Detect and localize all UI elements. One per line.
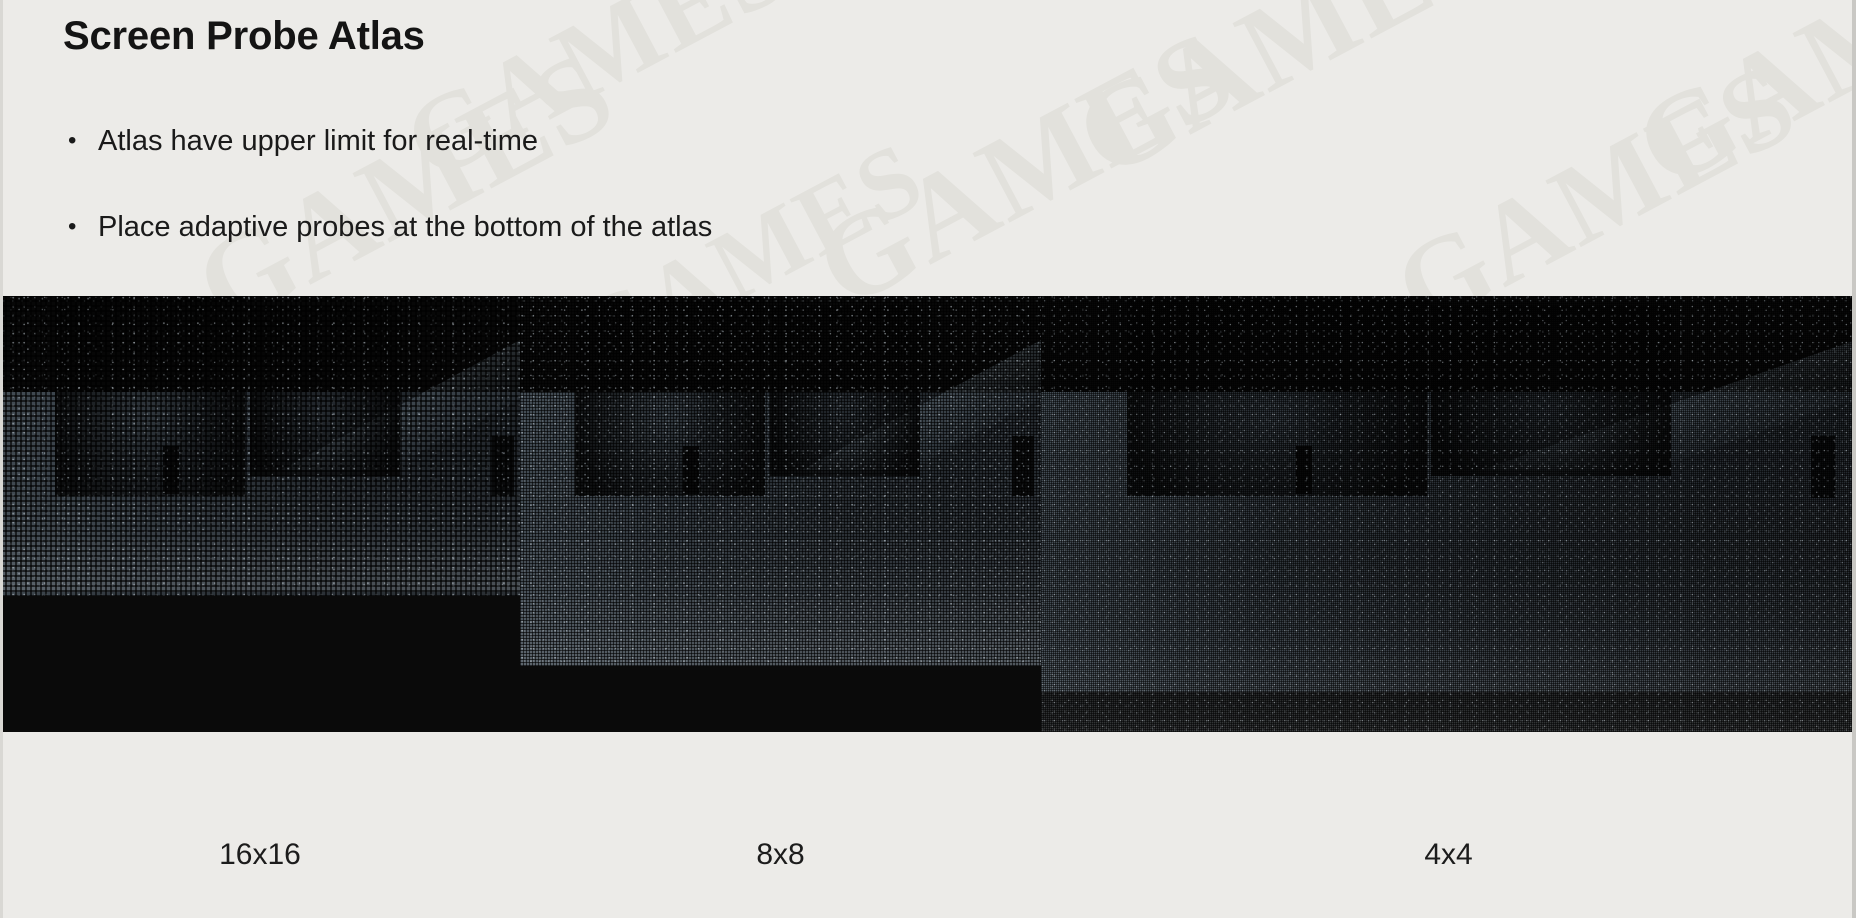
probe-atlas-render <box>0 296 520 732</box>
bullet-icon: • <box>68 126 98 156</box>
bullet-list: • Atlas have upper limit for real-time •… <box>68 126 1268 298</box>
bullet-icon: • <box>68 212 98 242</box>
panel-caption-4x4: 4x4 <box>1041 838 1856 872</box>
figure-panel-8x8 <box>520 296 1041 732</box>
list-item: • Place adaptive probes at the bottom of… <box>68 212 1268 244</box>
caption-row: 16x16 8x8 4x4 <box>0 732 1856 918</box>
frame-edge-right <box>1852 0 1856 918</box>
watermark-text: GAMES <box>1614 0 1856 216</box>
probe-grid-overlay <box>1041 296 1856 732</box>
list-item-label: Place adaptive probes at the bottom of t… <box>98 212 1268 244</box>
list-item: • Atlas have upper limit for real-time <box>68 126 1268 158</box>
probe-atlas-render <box>520 296 1041 732</box>
figure-panel-4x4 <box>1041 296 1856 732</box>
panel-caption-16x16: 16x16 <box>0 838 520 872</box>
unused-atlas-area <box>520 666 1041 732</box>
panel-caption-8x8: 8x8 <box>520 838 1041 872</box>
frame-edge-left <box>0 0 3 918</box>
slide-root: GAMES GAMES GAMES GAMES GAMES GAMES GAME… <box>0 0 1856 918</box>
figure-panel-16x16 <box>0 296 520 732</box>
unused-atlas-area <box>0 596 520 732</box>
list-item-label: Atlas have upper limit for real-time <box>98 126 1268 158</box>
page-title: Screen Probe Atlas <box>63 14 425 59</box>
probe-atlas-render <box>1041 296 1856 732</box>
comparison-figure <box>0 296 1856 732</box>
